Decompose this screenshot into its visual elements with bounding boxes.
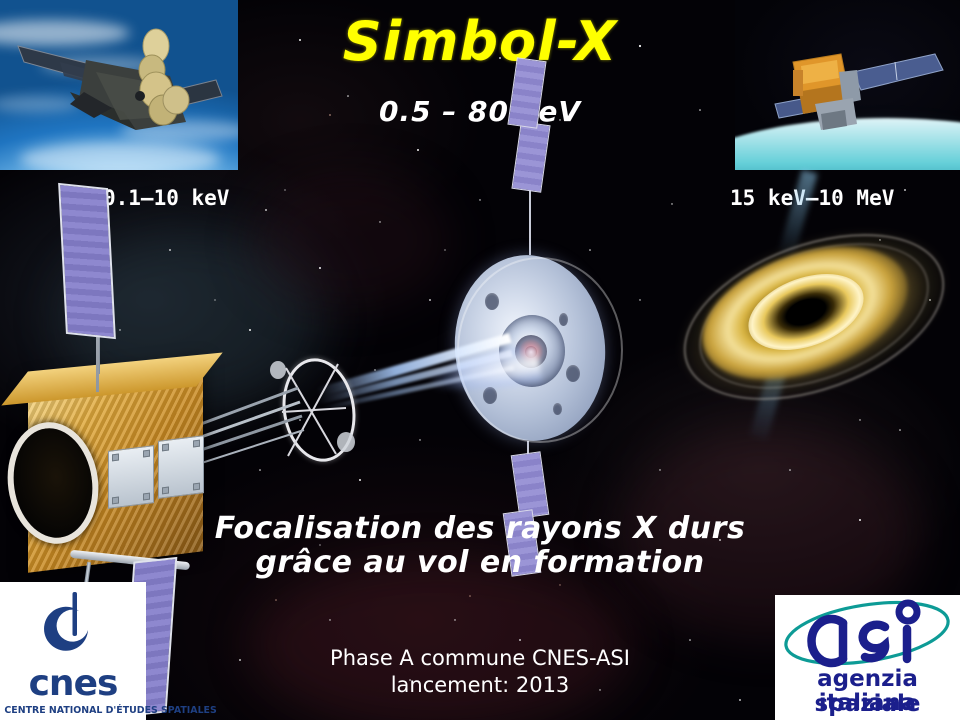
page-title: Simbol-X (0, 10, 960, 73)
energy-range-subtitle: 0.5 – 80 keV (0, 95, 960, 128)
caption-line-2: grâce au vol en formation (0, 546, 960, 580)
main-caption: Focalisation des rayons X durs grâce au … (0, 512, 960, 580)
cnes-emblem-icon (38, 590, 112, 664)
cnes-logo: cnes CENTRE NATIONAL D'ÉTUDES SPATIALES (0, 582, 146, 720)
presentation-slide: Simbol-X 0.5 – 80 keV 0.1–10 keV 15 keV–… (0, 0, 960, 720)
cnes-wordmark: cnes (0, 666, 146, 702)
asi-wordmark-line-2: italiana (775, 691, 960, 716)
radiator-panel-right (158, 435, 204, 499)
asi-logo: agenzia spaziale italiana (775, 595, 960, 720)
asi-emblem-icon (781, 597, 954, 673)
accretion-disc-black-hole (672, 216, 954, 426)
radiator-panel-left (108, 445, 154, 509)
caption-line-1: Focalisation des rayons X durs (0, 512, 960, 546)
band-label-soft: 0.1–10 keV (103, 186, 229, 210)
cnes-tagline: CENTRE NATIONAL D'ÉTUDES SPATIALES (4, 705, 141, 716)
